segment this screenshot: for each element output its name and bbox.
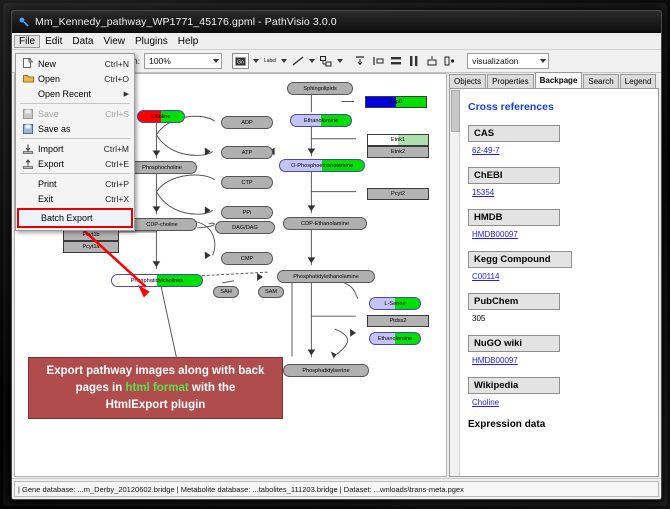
menu-item-open[interactable]: Open Ctrl+O [16, 71, 134, 86]
file-dropdown-menu[interactable]: New Ctrl+N Open Ctrl+O Open Recent ▶ [15, 53, 135, 231]
distribute-vertical-icon[interactable] [389, 54, 403, 68]
line-dropdown-icon[interactable] [309, 59, 315, 63]
xref-value-nugo[interactable]: HMDB00097 [472, 356, 648, 365]
xref-link-hmdb[interactable]: HMDB00097 [472, 230, 518, 239]
xref-value-pubchem: 305 [472, 314, 648, 323]
menu-separator [20, 103, 130, 104]
save-disk-icon [18, 109, 38, 119]
import-icon [18, 144, 38, 154]
window-title: Mm_Kennedy_pathway_WP1771_45176.gpml - P… [35, 16, 337, 28]
size-equal-icon[interactable] [425, 54, 439, 68]
node-ethanolamine-2[interactable]: Ethanolamine [369, 332, 421, 345]
node-phosphatidylserine[interactable]: Phosphatidylserine [283, 364, 369, 377]
node-l-serine[interactable]: L-Serine [369, 297, 421, 310]
xref-link-nugo[interactable]: HMDB00097 [472, 356, 518, 365]
xref-db-hmdb: HMDB [468, 209, 560, 226]
node-phosphatidylcholines[interactable]: Phosphatidylcholines [111, 274, 203, 287]
node-choline-top[interactable]: Choline [137, 110, 185, 123]
submenu-arrow-icon: ▶ [124, 90, 132, 98]
zoom-value: 100% [149, 56, 171, 66]
xref-db-pubchem: PubChem [468, 293, 560, 310]
node-sam[interactable]: SAM [258, 286, 284, 298]
callout-line3: HtmlExport plugin [106, 399, 206, 411]
menu-separator [20, 138, 130, 139]
menu-item-new[interactable]: New Ctrl+N [16, 56, 134, 71]
node-atp[interactable]: ATP [221, 146, 273, 159]
datanode-tool-icon[interactable]: Gn [232, 53, 249, 69]
xref-value-wikipedia[interactable]: Choline [472, 398, 648, 407]
datanode-dropdown-icon[interactable] [253, 59, 259, 63]
menu-item-import[interactable]: Import Ctrl+M [16, 141, 134, 156]
node-dag[interactable]: DAG/DAG [215, 221, 275, 234]
menu-file[interactable]: File [14, 35, 40, 48]
node-phosphocholine[interactable]: Phosphocholine [127, 161, 197, 174]
visualization-combobox[interactable]: visualization [467, 53, 549, 69]
label-dropdown-icon[interactable] [281, 59, 287, 63]
gene-etnk1[interactable]: Etnk1 [367, 134, 429, 146]
menu-separator [20, 173, 130, 174]
cross-references-title: Cross references [468, 101, 648, 113]
callout-line1: Export pathway images along with back [47, 365, 265, 377]
xref-db-chebi: ChEBI [468, 167, 560, 184]
xref-value-cas[interactable]: 62-49-7 [472, 146, 648, 155]
tab-backpage[interactable]: Backpage [535, 72, 583, 88]
menu-item-save-as[interactable]: Save as [16, 121, 134, 136]
title-bar: Mm_Kennedy_pathway_WP1771_45176.gpml - P… [12, 11, 661, 33]
status-text: | Gene database: ...m_Derby_20120602.bri… [14, 481, 659, 497]
open-folder-icon [18, 74, 38, 83]
expression-data-title: Expression data [468, 419, 648, 430]
save-as-icon [18, 124, 38, 134]
sidebar-scrollbar[interactable] [450, 89, 460, 476]
gene-ptdss2[interactable]: Ptdss2 [367, 315, 429, 327]
align-top-icon[interactable] [353, 54, 367, 68]
node-o-phosphoethanolamine[interactable]: O-Phosphoethanolamine [279, 159, 365, 172]
backpage-panel: Cross references CAS 62-49-7 ChEBI 15354… [449, 88, 659, 477]
backpage-content: Cross references CAS 62-49-7 ChEBI 15354… [460, 89, 658, 476]
xref-value-hmdb[interactable]: HMDB00097 [472, 230, 648, 239]
interaction-dropdown-icon[interactable] [337, 59, 343, 63]
svg-text:Gn: Gn [237, 59, 244, 65]
node-cmp[interactable]: CMP [221, 252, 273, 265]
order-icon[interactable] [443, 54, 457, 68]
xref-db-kegg: Kegg Compound [468, 251, 572, 268]
annotation-callout: Export pathway images along with back pa… [28, 357, 283, 419]
menu-item-export[interactable]: Export Ctrl+E [16, 156, 134, 171]
menu-item-print[interactable]: Print Ctrl+P [16, 176, 134, 191]
node-sphingolipids[interactable]: Sphingolipids [287, 82, 353, 95]
tab-properties[interactable]: Properties [487, 74, 533, 88]
chevron-down-icon [540, 59, 546, 63]
scrollbar-thumb[interactable] [451, 90, 460, 132]
tab-objects[interactable]: Objects [449, 74, 486, 88]
tab-legend[interactable]: Legend [620, 74, 657, 88]
tab-search[interactable]: Search [583, 74, 618, 88]
menu-item-save: Save Ctrl+S [16, 106, 134, 121]
menu-item-exit[interactable]: Exit Ctrl+X [16, 191, 134, 206]
interaction-tool-icon[interactable] [319, 54, 333, 68]
xref-link-kegg[interactable]: C00114 [472, 272, 499, 281]
export-icon [18, 159, 38, 169]
pathvisio-icon [18, 16, 30, 28]
callout-line2-pre: pages in [76, 382, 126, 394]
align-left-icon[interactable] [371, 54, 385, 68]
menu-item-batch-export[interactable]: Batch Export [17, 208, 133, 228]
menu-view[interactable]: View [98, 35, 130, 48]
node-ethanolamine[interactable]: Ethanolamine [290, 114, 352, 127]
xref-link-chebi[interactable]: 15354 [472, 188, 494, 197]
node-ppi[interactable]: PPi [221, 206, 273, 219]
xref-link-wikipedia[interactable]: Choline [472, 398, 499, 407]
xref-db-cas: CAS [468, 125, 560, 142]
node-adp[interactable]: ADP [221, 116, 273, 129]
menu-item-open-recent[interactable]: Open Recent ▶ [16, 86, 134, 101]
xref-value-kegg[interactable]: C00114 [472, 272, 648, 281]
callout-line2-post: with the [189, 382, 236, 394]
node-sah[interactable]: SAH [213, 286, 239, 298]
node-ctp[interactable]: CTP [221, 176, 273, 189]
gene-pcyt1a[interactable]: Pcyt1a [63, 241, 119, 253]
line-tool-icon[interactable] [291, 54, 305, 68]
gene-pcyt2[interactable]: Pcyt2 [367, 188, 429, 200]
sidebar-tabstrip: Objects Properties Backpage Search Legen… [449, 73, 659, 88]
node-cdp-choline[interactable]: CDP-choline [127, 218, 197, 231]
gene-sgpl1[interactable]: Sgpl1 [365, 96, 427, 108]
xref-db-wikipedia: Wikipedia [468, 377, 560, 394]
label-tool-icon[interactable]: Label [263, 54, 277, 68]
pathvisio-window: Mm_Kennedy_pathway_WP1771_45176.gpml - P… [11, 10, 662, 500]
callout-highlight: html format [125, 382, 188, 394]
node-cdp-ethanolamine[interactable]: CDP-Ethanolamine [283, 217, 367, 230]
menu-data[interactable]: Data [67, 35, 98, 48]
menu-plugins[interactable]: Plugins [130, 35, 173, 48]
xref-link-cas[interactable]: 62-49-7 [472, 146, 500, 155]
distribute-horizontal-icon[interactable] [407, 54, 421, 68]
right-sidebar: Objects Properties Backpage Search Legen… [449, 73, 659, 477]
menu-help[interactable]: Help [173, 35, 204, 48]
status-bar: | Gene database: ...m_Derby_20120602.bri… [12, 478, 661, 499]
menu-bar: File Edit Data View Plugins Help [12, 33, 661, 50]
outer-frame: Mm_Kennedy_pathway_WP1771_45176.gpml - P… [0, 0, 670, 509]
xref-db-nugo: NuGO wiki [468, 335, 560, 352]
gene-etnk2[interactable]: Etnk2 [367, 146, 429, 158]
new-document-icon [18, 58, 38, 69]
visualization-value: visualization [472, 56, 518, 66]
callout-text: Export pathway images along with back pa… [41, 363, 271, 414]
chevron-down-icon [213, 59, 219, 63]
zoom-combobox[interactable]: 100% [144, 53, 222, 69]
menu-edit[interactable]: Edit [40, 35, 67, 48]
node-phosphatidylethanolamine[interactable]: Phosphatidylethanolamine [277, 270, 375, 283]
xref-value-chebi[interactable]: 15354 [472, 188, 648, 197]
